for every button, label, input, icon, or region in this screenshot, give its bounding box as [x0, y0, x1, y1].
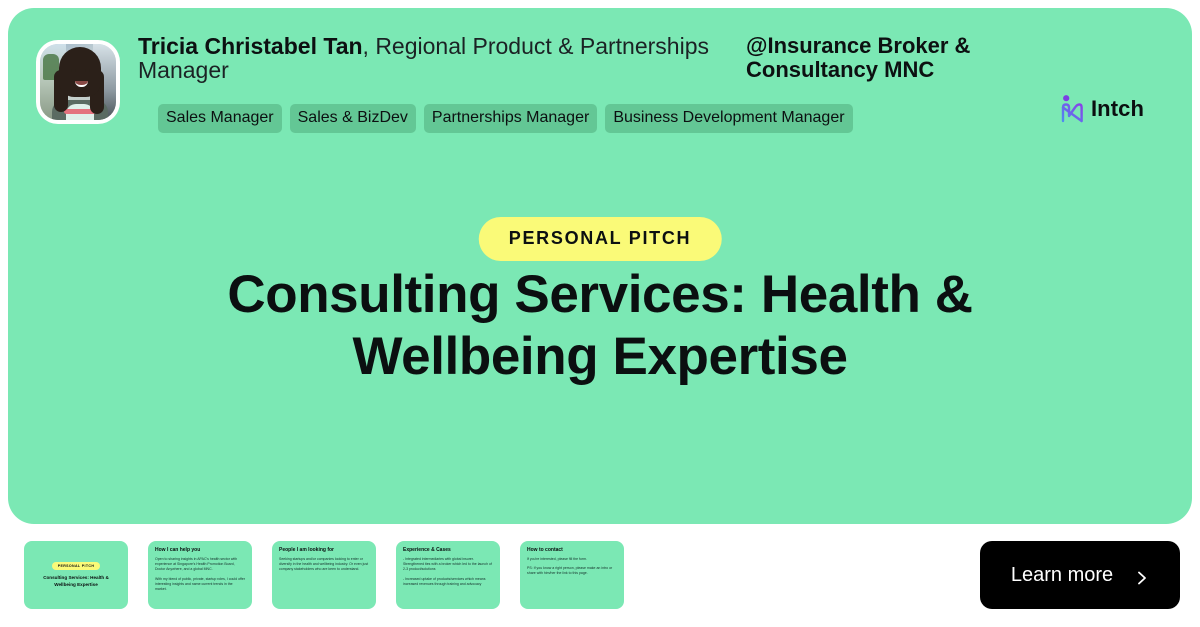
thumbnail-paragraph: Seeking startups and/or companies lookin…: [279, 557, 369, 573]
avatar-photo: [40, 44, 116, 120]
thumbnail-slide-how-to-contact[interactable]: How to contact If you're interested, ple…: [520, 541, 624, 609]
profile-tag[interactable]: Sales & BizDev: [290, 104, 416, 133]
thumbnail-heading: Experience & Cases: [403, 547, 493, 553]
profile-name-role: Tricia Christabel Tan, Regional Product …: [138, 34, 723, 82]
thumbnail-paragraph: PS: If you know a right person, please m…: [527, 566, 617, 576]
thumbnail-slide-cover[interactable]: PERSONAL PITCH Consulting Services: Heal…: [24, 541, 128, 609]
thumbnail-slide-experience-and-cases[interactable]: Experience & Cases - Integrated intermed…: [396, 541, 500, 609]
thumbnail-paragraph: Open to sharing insights in APAC's healt…: [155, 557, 245, 573]
brand-logo[interactable]: Intch: [1060, 94, 1144, 124]
slide-thumbnail-strip: PERSONAL PITCH Consulting Services: Heal…: [24, 541, 624, 609]
thumbnail-heading: How to contact: [527, 547, 617, 553]
personal-pitch-badge: PERSONAL PITCH: [479, 217, 722, 261]
profile-company: @Insurance Broker & Consultancy MNC: [746, 34, 1046, 82]
thumbnail-heading: How I can help you: [155, 547, 245, 553]
thumbnail-paragraph: If you're interested, please fill the fo…: [527, 557, 617, 562]
avatar[interactable]: [36, 40, 120, 124]
screenshot-root: Tricia Christabel Tan, Regional Product …: [0, 0, 1200, 627]
learn-more-button[interactable]: Learn more: [980, 541, 1180, 609]
profile-tag[interactable]: Business Development Manager: [605, 104, 852, 133]
thumbnail-paragraph: With my blend of public, private, startu…: [155, 577, 245, 593]
thumbnail-title: Consulting Services: Health & Wellbeing …: [36, 575, 115, 588]
brand-name: Intch: [1091, 96, 1144, 122]
thumbnail-paragraph: - Increased uptake of products/services …: [403, 577, 493, 587]
thumbnail-badge: PERSONAL PITCH: [52, 562, 101, 571]
thumbnail-slide-people-i-am-looking-for[interactable]: People I am looking for Seeking startups…: [272, 541, 376, 609]
profile-tag[interactable]: Partnerships Manager: [424, 104, 597, 133]
intch-n-logo-icon: [1060, 94, 1084, 124]
profile-role-separator: ,: [363, 33, 376, 59]
thumbnail-heading: People I am looking for: [279, 547, 369, 553]
profile-name: Tricia Christabel Tan: [138, 33, 363, 59]
learn-more-label: Learn more: [1011, 564, 1113, 587]
profile-header: Tricia Christabel Tan, Regional Product …: [28, 34, 1172, 144]
profile-tag[interactable]: Sales Manager: [158, 104, 282, 133]
thumbnail-slide-how-i-can-help-you[interactable]: How I can help you Open to sharing insig…: [148, 541, 252, 609]
pitch-hero-panel: Tricia Christabel Tan, Regional Product …: [8, 8, 1192, 524]
page-title: Consulting Services: Health & Wellbeing …: [128, 264, 1072, 388]
profile-tag-list: Sales Manager Sales & BizDev Partnership…: [158, 104, 853, 133]
thumbnail-paragraph: - Integrated intermediaries with global …: [403, 557, 493, 573]
chevron-right-icon: [1135, 568, 1149, 582]
